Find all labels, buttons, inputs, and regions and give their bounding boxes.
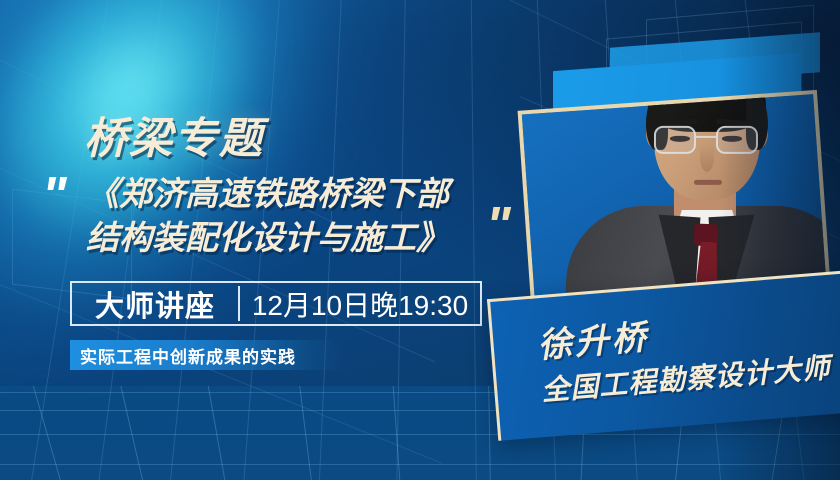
webinar-poster: 桥梁专题 " " 《郑济高速铁路桥梁下部 结构装配化设计与施工》 大师讲座 12…: [0, 0, 840, 480]
poster-title: 《郑济高速铁路桥梁下部 结构装配化设计与施工》: [86, 172, 506, 259]
quote-open-icon: ": [42, 170, 65, 222]
poster-title-line-1: 《郑济高速铁路桥梁下部: [86, 172, 506, 216]
lecture-badge-label: 大师讲座: [72, 283, 238, 324]
poster-kicker: 桥梁专题: [84, 104, 264, 166]
poster-title-line-2: 结构装配化设计与施工》: [86, 216, 506, 260]
lecture-datetime: 12月10日晚19:30: [240, 283, 480, 324]
subtitle-ribbon: 实际工程中创新成果的实践: [70, 340, 342, 370]
subtitle-ribbon-text: 实际工程中创新成果的实践: [80, 343, 296, 368]
lecture-badge: 大师讲座 12月10日晚19:30: [70, 281, 482, 326]
